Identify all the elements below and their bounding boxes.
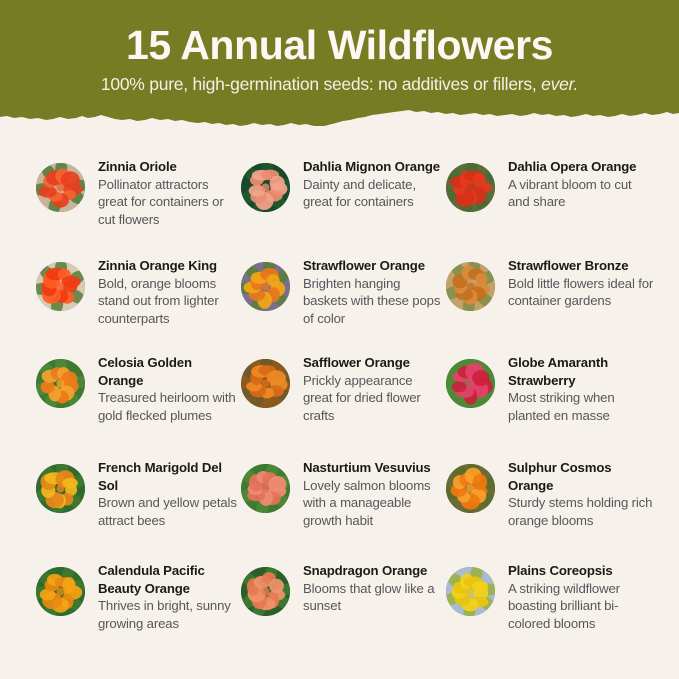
wildflower-item-text: Calendula Pacific Beauty OrangeThrives i… — [98, 562, 238, 632]
celosia-golden-orange-photo — [36, 359, 85, 408]
wildflower-item-text: Safflower OrangePrickly appearance great… — [303, 354, 443, 424]
wildflower-item-description: Dainty and delicate, great for container… — [303, 176, 443, 211]
wildflower-item-text: Strawflower OrangeBrighten hanging baske… — [303, 257, 443, 327]
wildflower-item-title: Safflower Orange — [303, 354, 443, 372]
wildflower-item-title: Celosia Golden Orange — [98, 354, 238, 389]
wildflower-item-description: Lovely salmon blooms with a manageable g… — [303, 477, 443, 530]
infographic-page: 15 Annual Wildflowers 100% pure, high-ge… — [0, 0, 679, 679]
wildflower-item-title: Strawflower Orange — [303, 257, 443, 275]
wildflower-item-description: Brighten hanging baskets with these pops… — [303, 275, 443, 328]
wildflower-item-text: Zinnia Orange KingBold, orange blooms st… — [98, 257, 238, 327]
zinnia-oriole-photo — [36, 163, 85, 212]
dahlia-opera-orange-photo — [446, 163, 495, 212]
wildflower-item-description: A striking wildflower boasting brilliant… — [508, 580, 654, 633]
page-title: 15 Annual Wildflowers — [0, 0, 679, 68]
french-marigold-del-sol-photo — [36, 464, 85, 513]
wildflower-item-description: A vibrant bloom to cut and share — [508, 176, 654, 211]
wildflower-item-description: Brown and yellow petals attract bees — [98, 494, 238, 529]
calendula-pacific-beauty-orange-photo — [36, 567, 85, 616]
wildflower-item-text: Plains CoreopsisA striking wildflower bo… — [508, 562, 654, 632]
wildflower-item-description: Bold, orange blooms stand out from light… — [98, 275, 238, 328]
wildflower-item-text: Celosia Golden OrangeTreasured heirloom … — [98, 354, 238, 424]
nasturtium-vesuvius-photo — [241, 464, 290, 513]
wildflower-item-text: Snapdragon OrangeBlooms that glow like a… — [303, 562, 443, 615]
wildflower-item-title: Calendula Pacific Beauty Orange — [98, 562, 238, 597]
page-subtitle-emphasis: ever. — [541, 74, 578, 94]
wildflower-item-title: French Marigold Del Sol — [98, 459, 238, 494]
safflower-orange-photo — [241, 359, 290, 408]
wildflower-item-text: Dahlia Opera OrangeA vibrant bloom to cu… — [508, 158, 654, 211]
header-banner-content: 15 Annual Wildflowers 100% pure, high-ge… — [0, 0, 679, 95]
wildflower-item-text: French Marigold Del SolBrown and yellow … — [98, 459, 238, 529]
wildflower-item-text: Zinnia OriolePollinator attractors great… — [98, 158, 238, 228]
wildflower-item-description: Bold little flowers ideal for container … — [508, 275, 654, 310]
wildflower-item-description: Sturdy stems holding rich orange blooms — [508, 494, 654, 529]
wildflower-item-title: Dahlia Opera Orange — [508, 158, 654, 176]
strawflower-bronze-photo — [446, 262, 495, 311]
page-subtitle: 100% pure, high-germination seeds: no ad… — [0, 68, 679, 95]
wildflower-item-text: Sulphur Cosmos OrangeSturdy stems holdin… — [508, 459, 654, 529]
wildflower-item-title: Globe Amaranth Strawberry — [508, 354, 654, 389]
sulphur-cosmos-orange-photo — [446, 464, 495, 513]
wildflower-item-text: Dahlia Mignon OrangeDainty and delicate,… — [303, 158, 443, 211]
wildflower-item-description: Thrives in bright, sunny growing areas — [98, 597, 238, 632]
wildflower-item-description: Pollinator attractors great for containe… — [98, 176, 238, 229]
header-banner: 15 Annual Wildflowers 100% pure, high-ge… — [0, 0, 679, 126]
wildflower-item-title: Plains Coreopsis — [508, 562, 654, 580]
wildflower-item-title: Strawflower Bronze — [508, 257, 654, 275]
wildflower-item-title: Zinnia Oriole — [98, 158, 238, 176]
zinnia-orange-king-photo — [36, 262, 85, 311]
plains-coreopsis-photo — [446, 567, 495, 616]
globe-amaranth-strawberry-photo — [446, 359, 495, 408]
wildflower-item-title: Sulphur Cosmos Orange — [508, 459, 654, 494]
strawflower-orange-photo — [241, 262, 290, 311]
wildflower-item-title: Nasturtium Vesuvius — [303, 459, 443, 477]
snapdragon-orange-photo — [241, 567, 290, 616]
wildflower-item-title: Snapdragon Orange — [303, 562, 443, 580]
wildflower-item-description: Treasured heirloom with gold flecked plu… — [98, 389, 238, 424]
wildflower-item-title: Dahlia Mignon Orange — [303, 158, 443, 176]
wildflower-item-text: Strawflower BronzeBold little flowers id… — [508, 257, 654, 310]
wildflower-item-title: Zinnia Orange King — [98, 257, 238, 275]
wildflower-item-description: Prickly appearance great for dried flowe… — [303, 372, 443, 425]
wildflower-item-description: Blooms that glow like a sunset — [303, 580, 443, 615]
wildflower-item-text: Nasturtium VesuviusLovely salmon blooms … — [303, 459, 443, 529]
page-subtitle-plain: 100% pure, high-germination seeds: no ad… — [101, 74, 541, 94]
dahlia-mignon-orange-photo — [241, 163, 290, 212]
wildflower-item-text: Globe Amaranth StrawberryMost striking w… — [508, 354, 654, 424]
wildflower-item-description: Most striking when planted en masse — [508, 389, 654, 424]
